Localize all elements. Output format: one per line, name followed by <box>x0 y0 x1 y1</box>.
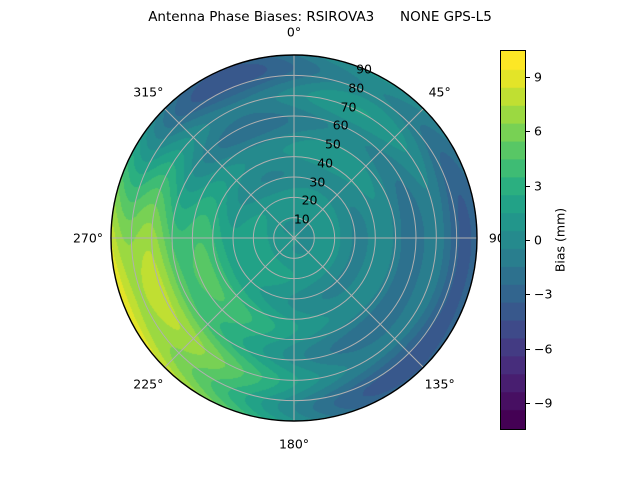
radial-tick-label-80: 80 <box>348 80 364 95</box>
colorbar-tick-mark <box>526 240 530 241</box>
colorbar-tick-label-6: 6 <box>534 124 542 139</box>
radial-tick-label-10: 10 <box>294 212 310 227</box>
radial-tick-label-40: 40 <box>317 155 333 170</box>
colorbar-tick-mark <box>526 186 530 187</box>
colorbar-tick-mark <box>526 403 530 404</box>
colorbar-tick-label--3: −3 <box>534 287 552 302</box>
angular-tick-label-270: 270° <box>73 231 103 246</box>
colorbar-tick-mark <box>526 294 530 295</box>
radial-tick-label-60: 60 <box>333 118 349 133</box>
colorbar-tick-label--6: −6 <box>534 341 552 356</box>
radial-tick-label-50: 50 <box>325 137 341 152</box>
colorbar-tick-mark <box>526 131 530 132</box>
grid-spoke <box>165 109 294 238</box>
colorbar[interactable]: −9−6−30369 <box>500 50 526 430</box>
figure-canvas: Antenna Phase Biases: RSIROVA3 NONE GPS-… <box>0 0 640 480</box>
grid-spoke <box>294 238 423 367</box>
colorbar-tick-label-0: 0 <box>534 233 542 248</box>
colorbar-axis-label: Bias (mm) <box>553 208 568 272</box>
grid-spoke <box>165 238 294 367</box>
angular-tick-label-0: 0° <box>287 25 301 40</box>
colorbar-tick-label--9: −9 <box>534 395 552 410</box>
angular-tick-label-45: 45° <box>429 85 451 100</box>
angular-tick-label-180: 180° <box>279 437 309 452</box>
colorbar-tick-label-3: 3 <box>534 178 542 193</box>
angular-tick-label-135: 135° <box>425 376 455 391</box>
colorbar-tick-label-9: 9 <box>534 70 542 85</box>
chart-title: Antenna Phase Biases: RSIROVA3 NONE GPS-… <box>0 9 640 25</box>
polar-plot-axes[interactable] <box>110 54 478 422</box>
radial-tick-label-30: 30 <box>309 174 325 189</box>
radial-tick-label-70: 70 <box>341 99 357 114</box>
colorbar-tick-mark <box>526 77 530 78</box>
polar-grid-overlay <box>110 54 478 422</box>
angular-tick-label-225: 225° <box>133 376 163 391</box>
radial-tick-label-90: 90 <box>356 61 372 76</box>
colorbar-tick-mark <box>526 349 530 350</box>
radial-tick-label-20: 20 <box>302 193 318 208</box>
angular-tick-label-315: 315° <box>133 85 163 100</box>
colorbar-gradient <box>500 50 526 430</box>
